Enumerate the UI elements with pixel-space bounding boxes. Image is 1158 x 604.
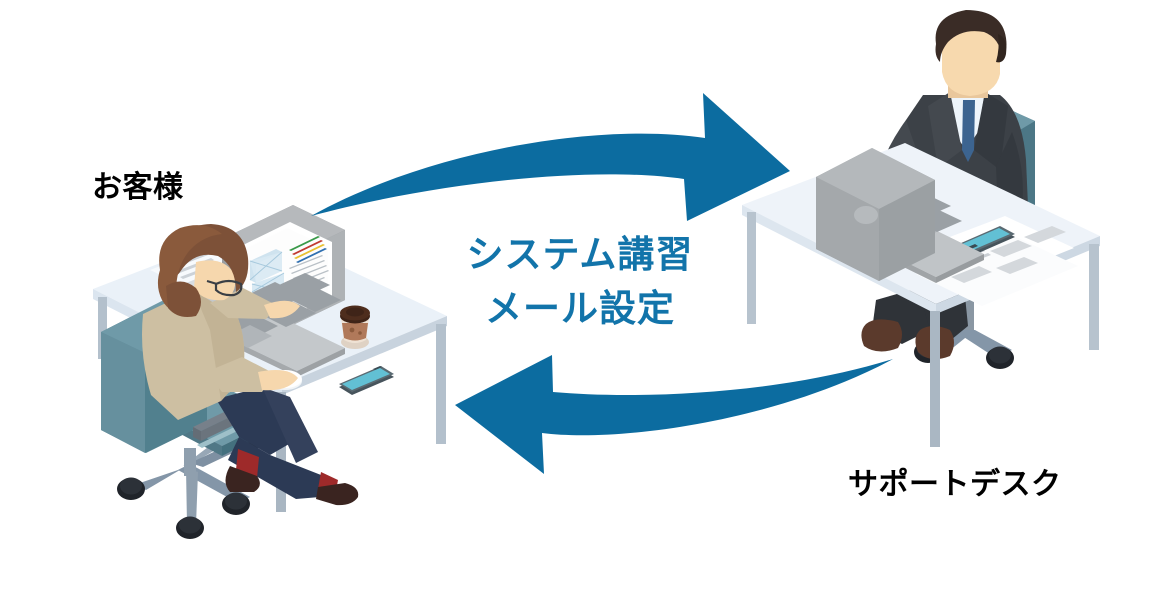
label-customer: お客様 [92, 162, 184, 206]
center-caption-line-2: メール設定 [430, 282, 730, 336]
illustration-canvas: お客様 サポートデスク システム講習 メール設定 [0, 0, 1158, 604]
center-caption-line-1: システム講習 [430, 228, 730, 282]
center-caption: システム講習 メール設定 [430, 228, 730, 335]
arrow-top-right [311, 93, 790, 221]
label-support-desk: サポートデスク [848, 459, 1062, 503]
arrow-bottom-left [455, 355, 893, 474]
